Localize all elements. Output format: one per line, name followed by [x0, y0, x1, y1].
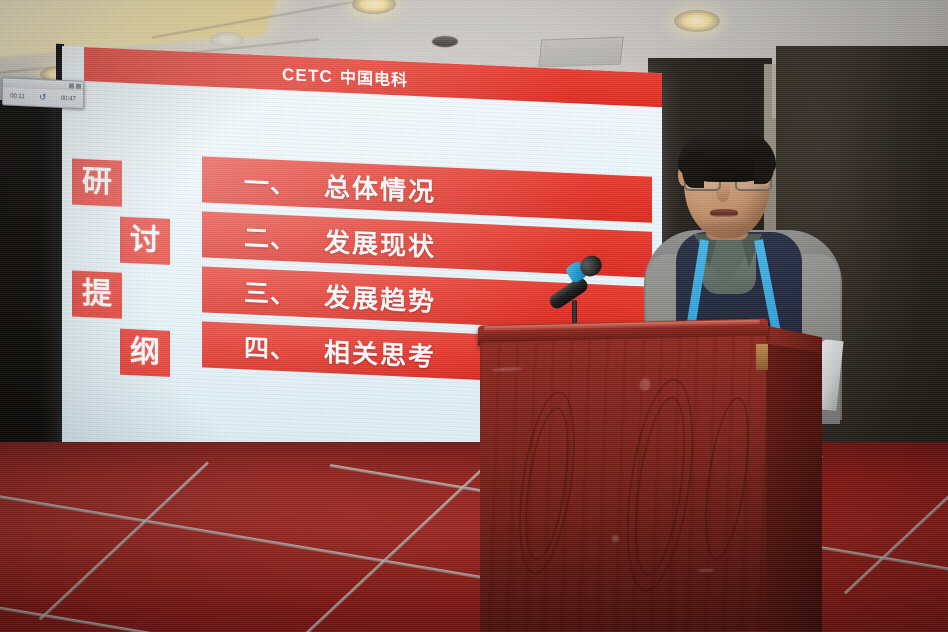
podium-scuff [492, 367, 522, 372]
undo-arrow-icon[interactable]: ↺ [39, 92, 47, 103]
agenda-item-label: 发展现状 [324, 221, 436, 263]
agenda-item-number: 三、 [244, 273, 296, 311]
floor-grid-line [0, 492, 493, 581]
cetc-logo-mark: CETC [282, 65, 333, 87]
agenda-item-number: 二、 [244, 218, 296, 256]
podium-front-panel [480, 336, 766, 632]
toolbar-left-value: 00:11 [10, 93, 25, 100]
close-icon[interactable] [76, 84, 81, 89]
annotation-toolbar-body: 00:11 ↺ 00:47 [3, 87, 83, 108]
speaker-hair [678, 126, 776, 182]
slide-vertical-title: 研 讨 提 纲 [68, 158, 198, 379]
downlight-icon [674, 10, 720, 32]
floor-grid-line [0, 600, 513, 632]
cetc-logo: CETC 中国电科 [282, 61, 408, 91]
speaker-mouth [710, 209, 738, 218]
downlight-icon [352, 0, 396, 14]
speaker-nose [716, 182, 730, 202]
speaker-chin-shadow [702, 222, 748, 234]
toolbar-right-value: 00:47 [61, 95, 76, 102]
agenda-item-label: 相关思考 [324, 331, 436, 373]
title-char-block: 讨 [120, 217, 170, 265]
floor-grid-line [844, 456, 948, 595]
microphone-body [547, 275, 590, 311]
title-char-block: 提 [72, 270, 122, 318]
conference-photo-scene: CETC 中国电科 研 讨 提 纲 一、 总体情况 二、 发展现状 [0, 0, 948, 632]
ceiling-speaker-icon [432, 36, 458, 47]
podium-scuff [698, 569, 714, 572]
podium-gold-trim [756, 344, 768, 370]
downlight-icon [210, 32, 244, 47]
agenda-item-label: 总体情况 [324, 166, 436, 208]
podium [478, 322, 822, 632]
agenda-item-label: 发展趋势 [324, 276, 436, 318]
ceiling-vent [538, 37, 623, 68]
annotation-toolbar[interactable]: 00:11 ↺ 00:47 [2, 77, 84, 109]
title-char-block: 纲 [120, 329, 170, 377]
agenda-item-number: 一、 [244, 163, 296, 201]
title-char-block: 研 [72, 158, 122, 206]
agenda-item-number: 四、 [244, 328, 296, 366]
podium-scuff [612, 535, 619, 542]
podium-side-panel [764, 343, 822, 632]
minimize-icon[interactable] [69, 83, 74, 88]
cetc-logo-chinese: 中国电科 [340, 64, 408, 91]
floor-grid-line [39, 462, 209, 621]
podium-wood-grain [697, 395, 757, 562]
agenda-item: 一、 总体情况 [202, 156, 652, 222]
podium-scuff [640, 378, 650, 390]
